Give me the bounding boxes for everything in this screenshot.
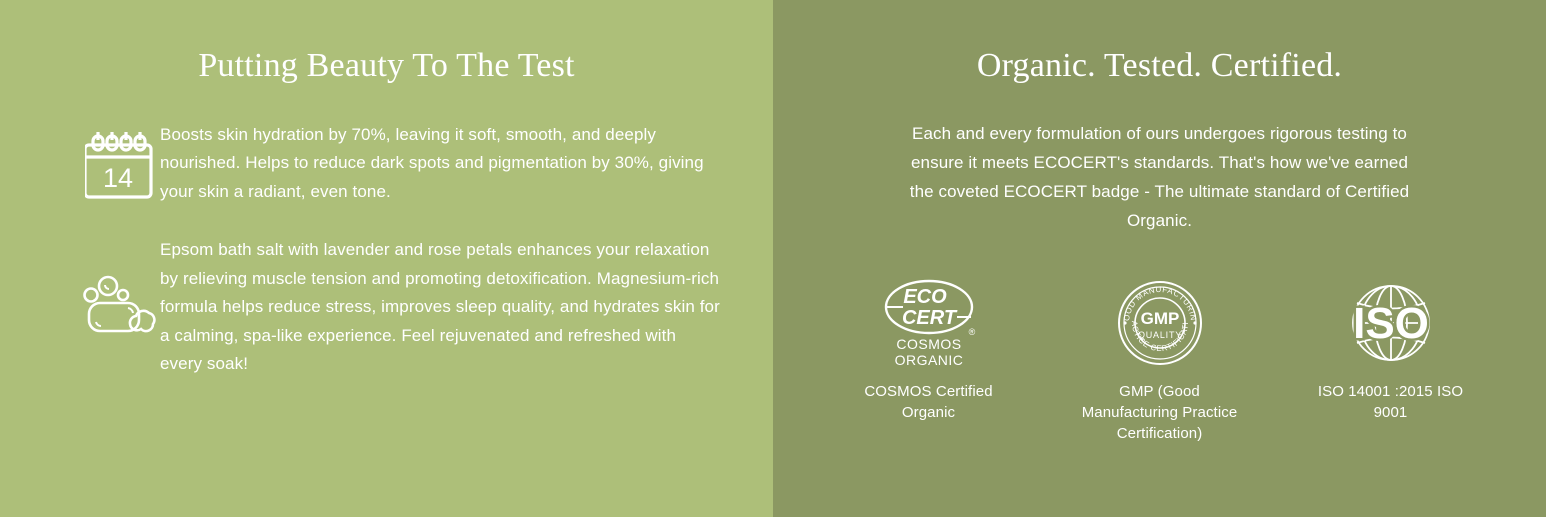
right-panel: Organic. Tested. Certified. Each and eve… [773, 0, 1546, 517]
badge-caption-ecocert: COSMOS Certified Organic [843, 381, 1014, 423]
badge-iso: ISO ISO 14001 :2015 ISO 9001 [1305, 277, 1476, 423]
calendar-14-icon: 14 [80, 121, 160, 202]
right-panel-intro: Each and every formulation of ours under… [910, 119, 1410, 235]
certification-badges: ECO CERT ® COSMOS ORGANIC COSMOS Certifi… [843, 277, 1476, 444]
feature-text-hydration: Boosts skin hydration by 70%, leaving it… [160, 121, 720, 207]
right-panel-title: Organic. Tested. Certified. [843, 46, 1476, 87]
badge-caption-iso: ISO 14001 :2015 ISO 9001 [1305, 381, 1476, 423]
gmp-quality-seal-icon: GOOD MANUFACTURING PRACTICE CERTIFICATIO… [1117, 277, 1203, 369]
gmp-center-main-text: GMP [1140, 309, 1179, 328]
gmp-center-sub-text: QUALITY [1137, 330, 1181, 340]
ecocert-sub-line-2: ORGANIC [894, 352, 963, 368]
iso-globe-badge-icon: ISO [1336, 277, 1446, 369]
certification-banner: Putting Beauty To The Test [0, 0, 1546, 517]
feature-item-hydration: 14 Boosts skin hydration by 70%, leaving… [80, 121, 733, 207]
badge-gmp: GOOD MANUFACTURING PRACTICE CERTIFICATIO… [1074, 277, 1245, 444]
iso-mark-text: ISO [1353, 299, 1429, 348]
soap-bubbles-icon [80, 275, 160, 341]
ecocert-sub-line-1: COSMOS [896, 336, 961, 352]
feature-text-bath-salt: Epsom bath salt with lavender and rose p… [160, 236, 720, 379]
ecocert-mark-line-1: ECO [903, 286, 947, 308]
badge-caption-gmp: GMP (Good Manufacturing Practice Certifi… [1074, 381, 1245, 444]
left-panel-title: Putting Beauty To The Test [40, 46, 733, 87]
left-panel: Putting Beauty To The Test [0, 0, 773, 517]
feature-list: 14 Boosts skin hydration by 70%, leaving… [40, 121, 733, 379]
ecocert-mark-line-2: CERT [901, 307, 957, 329]
badge-ecocert: ECO CERT ® COSMOS ORGANIC COSMOS Certifi… [843, 277, 1014, 423]
calendar-day-number: 14 [103, 163, 133, 193]
feature-item-bath-salt: Epsom bath salt with lavender and rose p… [80, 236, 733, 379]
ecocert-registered-symbol: ® [968, 327, 975, 337]
ecocert-cosmos-organic-badge-icon: ECO CERT ® COSMOS ORGANIC [873, 277, 985, 369]
